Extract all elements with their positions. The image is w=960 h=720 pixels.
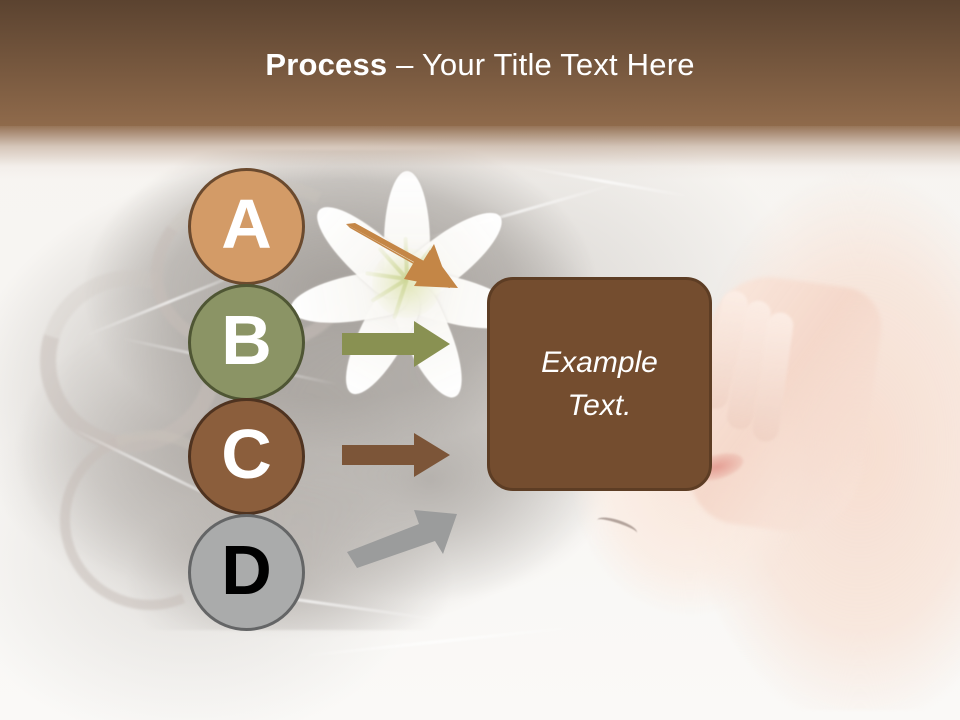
title-bar: Process – Your Title Text Here [0, 0, 960, 126]
result-line-2: Text. [568, 389, 632, 422]
result-line-1: Example [541, 346, 658, 379]
result-text: Example Text. [527, 341, 672, 428]
arrow-a-icon [342, 212, 472, 302]
step-label-d: D [221, 535, 272, 605]
step-circle-a[interactable]: A [188, 168, 305, 285]
step-label-a: A [221, 189, 272, 259]
step-circle-b[interactable]: B [188, 284, 305, 401]
step-label-b: B [221, 305, 272, 375]
title-rest-part: – Your Title Text Here [387, 47, 694, 82]
step-label-c: C [221, 419, 272, 489]
step-circle-c[interactable]: C [188, 398, 305, 515]
result-box[interactable]: Example Text. [487, 277, 712, 491]
title-bold-part: Process [265, 47, 387, 82]
arrow-b-icon [342, 319, 452, 369]
page-title: Process – Your Title Text Here [265, 47, 694, 83]
step-circle-d[interactable]: D [188, 514, 305, 631]
arrow-d-icon [345, 500, 465, 570]
title-bar-fade [0, 126, 960, 180]
slide-canvas: Process – Your Title Text Here A B C [0, 0, 960, 720]
arrow-c-icon [342, 430, 452, 480]
